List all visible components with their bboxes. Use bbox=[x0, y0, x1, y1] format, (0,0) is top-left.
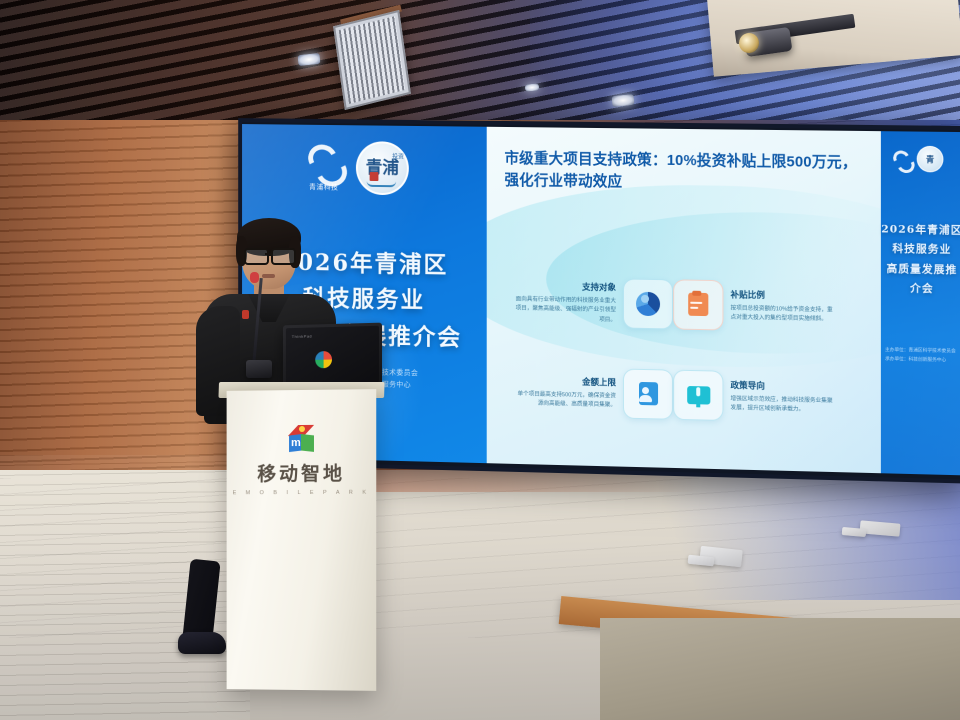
quadrant-amount-cap: 金额上限 单个项目最高支持500万元，确保资金资源向高能级、高质量项目集聚。 bbox=[512, 366, 673, 420]
quadrant-row-bottom: 金额上限 单个项目最高支持500万元，确保资金资源向高能级、高质量项目集聚。 bbox=[512, 346, 864, 444]
quadrant-icon-tile bbox=[623, 369, 673, 420]
qingpu-invest-seal-icon: 青浦 投资 bbox=[356, 141, 409, 195]
right-banner-logo-group: 青 bbox=[891, 145, 943, 172]
hvac-vent-icon bbox=[333, 10, 411, 110]
pie-chart-icon bbox=[636, 292, 660, 316]
presenter-shoe bbox=[178, 632, 226, 654]
right-banner-footer: 主办单位：青浦区科学技术委员会 承办单位：科技创新服务中心 bbox=[885, 346, 959, 365]
right-banner-footer-line-2: 承办单位：科技创新服务中心 bbox=[885, 355, 959, 365]
conference-room-photo: 青浦科技 青浦 投资 2026年青浦区 科技服务业 高质量发展推介会 主办单位：… bbox=[0, 0, 960, 720]
podium-brand-cn: 移动智地 bbox=[227, 459, 377, 487]
seal-red-stamp bbox=[370, 172, 379, 181]
screen-right-banner: 青 2026年青浦区 科技服务业 高质量发展推介会 主办单位：青浦区科学技术委员… bbox=[881, 131, 960, 475]
vent-grille bbox=[339, 16, 406, 104]
quadrant-heading: 补贴比例 bbox=[731, 288, 836, 302]
glasses-icon bbox=[244, 248, 296, 262]
ceiling-spotlight-icon bbox=[297, 53, 320, 66]
document-person-icon bbox=[636, 382, 660, 407]
quadrant-body: 增强区域示范效应，推动科技服务业集聚发展，提升区域创新承载力。 bbox=[731, 395, 836, 416]
presenter-badge bbox=[242, 310, 249, 319]
quadrant-body: 面向具有行业带动作用的科技服务业重大项目，聚焦高能级、强辐射的产业引领型项目。 bbox=[512, 296, 616, 325]
stage-blue-reflection bbox=[630, 470, 960, 600]
cube-logo-icon: m bbox=[286, 425, 316, 455]
qingpu-tech-logo-icon bbox=[304, 143, 343, 181]
ceiling-spotlight-icon bbox=[611, 94, 634, 107]
qingpu-invest-seal-icon: 青 bbox=[917, 146, 944, 173]
qingpu-tech-logo-label: 青浦科技 bbox=[302, 182, 345, 192]
quadrant-policy-direction: 政策导向 增强区域示范效应，推动科技服务业集聚发展，提升区域创新承载力。 bbox=[673, 370, 836, 424]
concrete-floor bbox=[600, 618, 960, 720]
microphone-base bbox=[246, 360, 272, 378]
seal-wave bbox=[367, 181, 396, 187]
qingpu-tech-logo: 青浦科技 bbox=[302, 142, 345, 192]
clipboard-icon bbox=[686, 293, 710, 318]
quadrant-heading: 政策导向 bbox=[731, 379, 836, 393]
microphone-head-icon bbox=[250, 272, 259, 283]
quadrant-text: 支持对象 面向具有行业带动作用的科技服务业重大项目，聚焦高能级、强辐射的产业引领… bbox=[512, 280, 623, 325]
monitor-icon bbox=[686, 383, 710, 408]
seal-suffix: 投资 bbox=[392, 151, 404, 160]
quadrant-support-target: 支持对象 面向具有行业带动作用的科技服务业重大项目，聚焦高能级、强辐射的产业引领… bbox=[512, 277, 673, 330]
laptop-screen[interactable]: ThinkPad bbox=[286, 326, 379, 384]
quadrant-body: 单个项目最高支持500万元，确保资金资源向高能级、高质量项目集聚。 bbox=[512, 390, 616, 410]
quadrant-text: 金额上限 单个项目最高支持500万元，确保资金资源向高能级、高质量项目集聚。 bbox=[512, 374, 623, 411]
podium-brand-en: E M O B I L E P A R K bbox=[227, 490, 377, 497]
laptop[interactable]: ThinkPad bbox=[283, 323, 382, 387]
glasses-lens-right bbox=[271, 248, 296, 265]
quadrant-text: 政策导向 增强区域示范效应，推动科技服务业集聚发展，提升区域创新承载力。 bbox=[723, 379, 836, 416]
quadrant-icon-tile bbox=[673, 370, 723, 421]
quadrant-subsidy-ratio: 补贴比例 按项目总投资额的10%给予资金支持，重点对重大投入的集约型项目实施倾斜… bbox=[673, 279, 836, 332]
cube-letter: m bbox=[291, 438, 301, 449]
cube-face-right bbox=[301, 434, 314, 452]
podium: m 移动智地 E M O B I L E P A R K bbox=[227, 389, 377, 691]
presenter-mouth bbox=[262, 274, 275, 278]
slide-title: 市级重大项目支持政策：10%投资补贴上限500万元，强化行业带动效应 bbox=[505, 149, 867, 197]
right-banner-title: 2026年青浦区 科技服务业 高质量发展推介会 bbox=[881, 220, 960, 300]
podium-branding: m 移动智地 E M O B I L E P A R K bbox=[227, 424, 377, 496]
right-banner-title-line-2: 科技服务业 bbox=[881, 240, 960, 261]
qingpu-tech-logo-icon bbox=[891, 149, 911, 168]
quadrant-body: 按项目总投资额的10%给予资金支持，重点对重大投入的集约型项目实施倾斜。 bbox=[731, 304, 836, 324]
quadrant-icon-tile bbox=[623, 278, 673, 329]
quadrant-text: 补贴比例 按项目总投资额的10%给予资金支持，重点对重大投入的集约型项目实施倾斜… bbox=[723, 288, 836, 324]
cube-accent-dot bbox=[299, 426, 305, 432]
quadrant-row-top: 支持对象 面向具有行业带动作用的科技服务业重大项目，聚焦高能级、强辐射的产业引领… bbox=[512, 257, 864, 354]
laptop-brand-label: ThinkPad bbox=[292, 334, 312, 339]
laptop-sticker-icon bbox=[315, 351, 332, 368]
quadrant-heading: 金额上限 bbox=[512, 374, 616, 388]
right-banner-title-line-1: 2026年青浦区 bbox=[881, 220, 960, 241]
glasses-lens-left bbox=[244, 248, 269, 265]
presentation-slide: 市级重大项目支持政策：10%投资补贴上限500万元，强化行业带动效应 支持对象 … bbox=[487, 127, 881, 473]
slide-quadrant-grid: 支持对象 面向具有行业带动作用的科技服务业重大项目，聚焦高能级、强辐射的产业引领… bbox=[512, 257, 864, 445]
banner-logo-group: 青浦科技 青浦 投资 bbox=[302, 141, 409, 196]
right-banner-title-line-3: 高质量发展推介会 bbox=[881, 260, 960, 301]
quadrant-heading: 支持对象 bbox=[512, 280, 616, 294]
quadrant-icon-tile bbox=[673, 279, 723, 330]
